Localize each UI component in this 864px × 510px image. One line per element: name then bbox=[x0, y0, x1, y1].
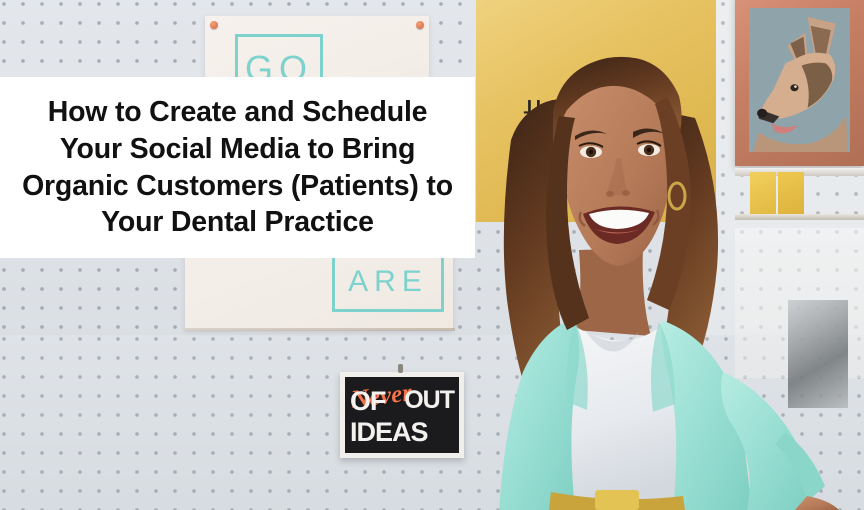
pin-icon bbox=[416, 21, 424, 29]
header-image: GO ARE IT MIGHT BE THE PROBLEM, YOU MIGH… bbox=[0, 0, 864, 510]
title-card: How to Create and Schedule Your Social M… bbox=[0, 77, 475, 258]
pin-icon bbox=[210, 21, 218, 29]
are-poster-label: ARE bbox=[332, 252, 444, 312]
ideas-sign-word-of-ideas: OF IDEAS bbox=[350, 386, 459, 448]
ideas-sign-face: Never OUT OF IDEAS bbox=[345, 377, 459, 453]
never-out-of-ideas-sign: Never OUT OF IDEAS bbox=[340, 372, 464, 458]
page-title: How to Create and Schedule Your Social M… bbox=[0, 94, 475, 241]
poster-bottom-edge bbox=[185, 328, 455, 331]
person-photo bbox=[455, 0, 864, 510]
sign-hook-icon bbox=[398, 364, 403, 373]
